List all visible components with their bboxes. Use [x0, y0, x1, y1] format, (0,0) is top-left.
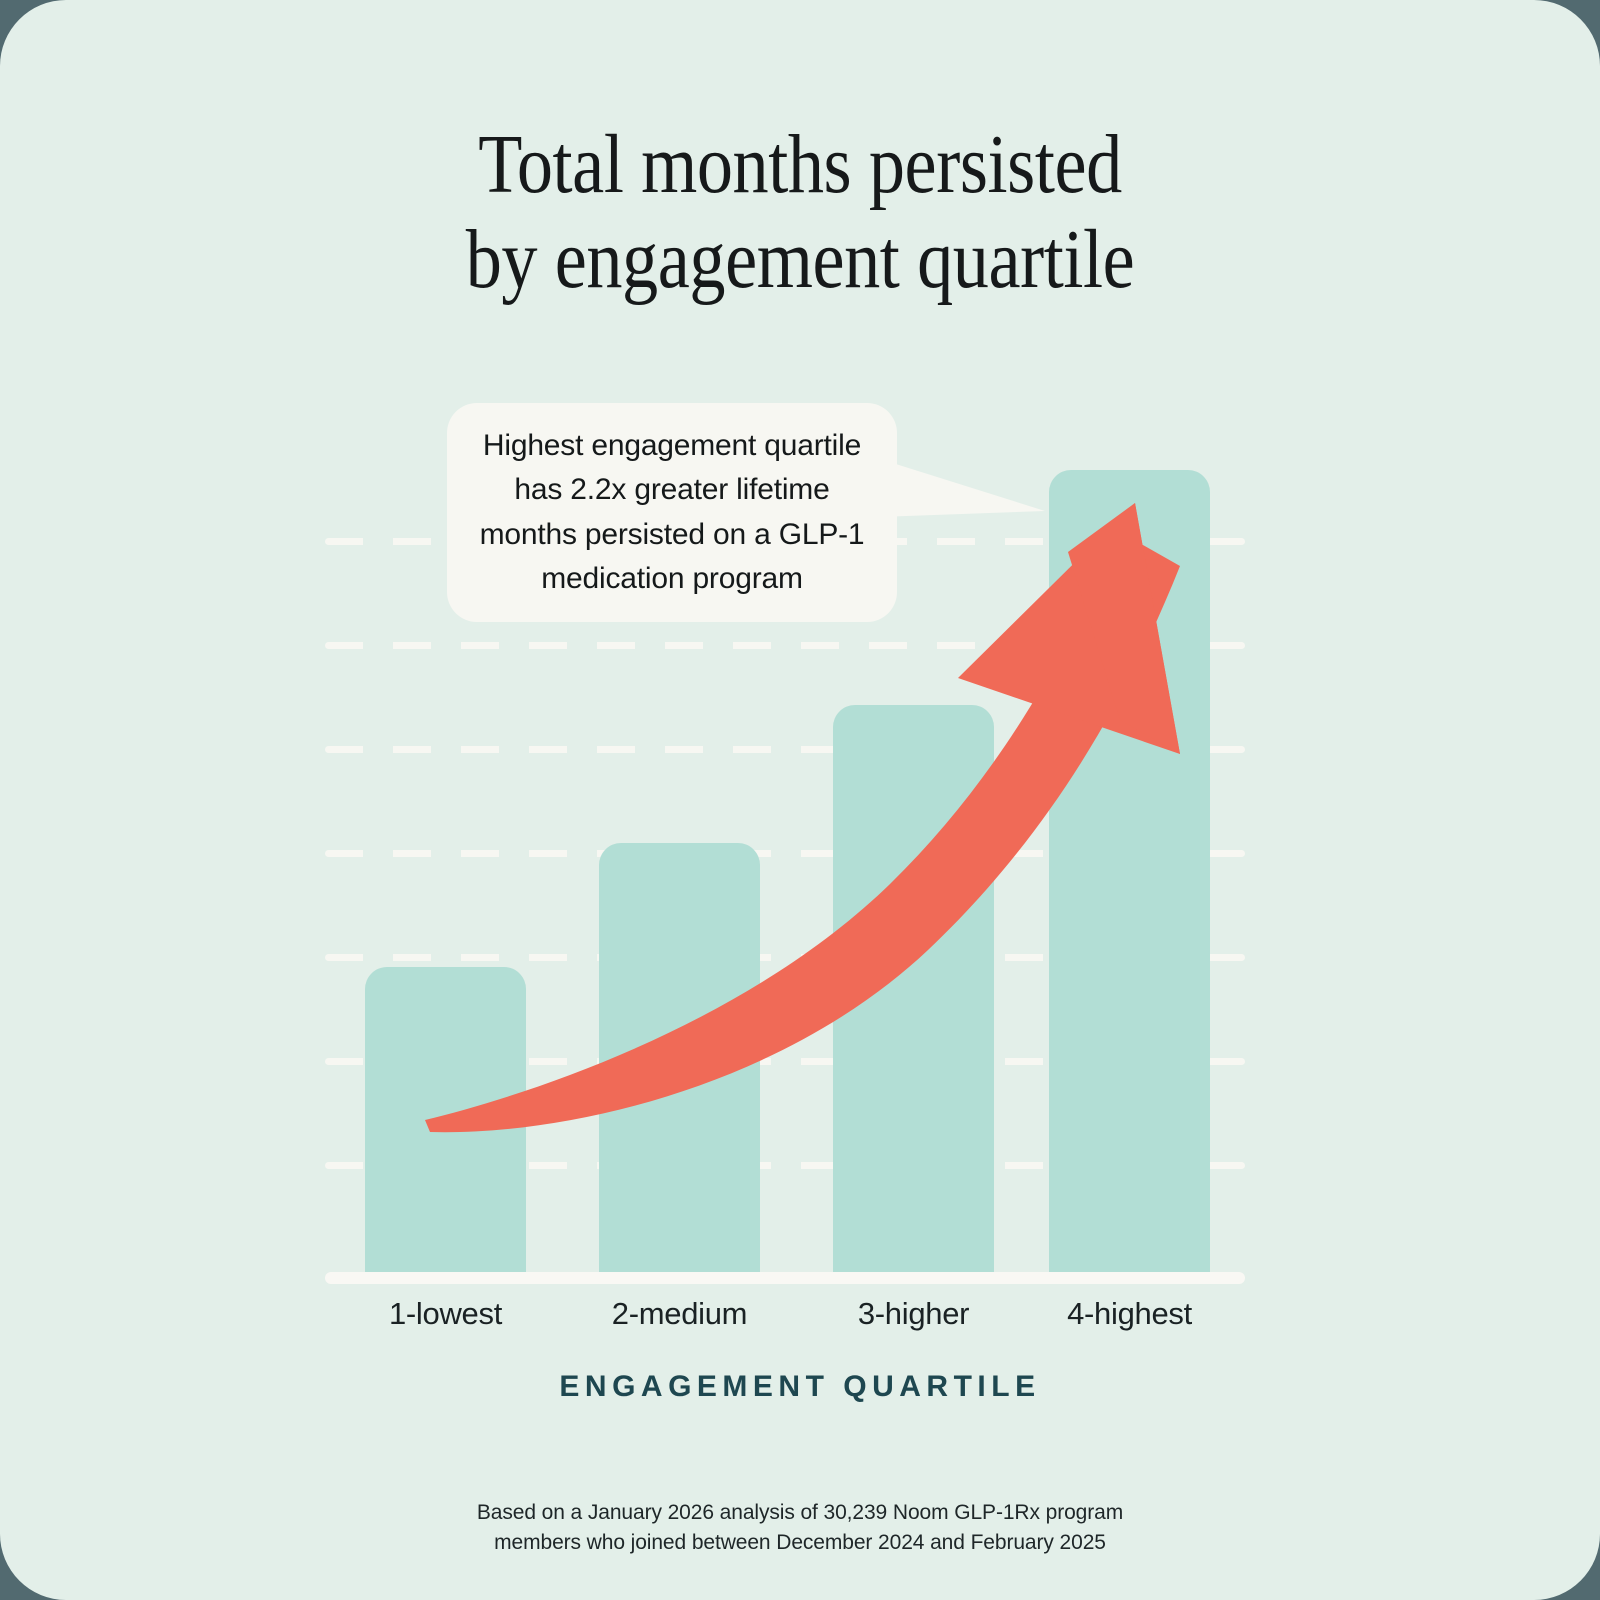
title-line-1: Total months persisted: [112, 118, 1488, 213]
callout-line-1: Highest engagement quartile: [480, 424, 865, 468]
footnote-line-2: members who joined between December 2024…: [0, 1528, 1600, 1558]
callout-line-4: medication program: [480, 557, 865, 601]
infographic-card: Total months persisted by engagement qua…: [0, 0, 1600, 1600]
footnote: Based on a January 2026 analysis of 30,2…: [0, 1498, 1600, 1558]
callout-tail: [880, 455, 1060, 525]
x-axis-label-3: 3-higher: [833, 1296, 994, 1332]
x-axis-baseline: [325, 1272, 1245, 1284]
callout-line-2: has 2.2x greater lifetime: [480, 468, 865, 512]
callout-line-3: months persisted on a GLP-1: [480, 513, 865, 557]
footnote-line-1: Based on a January 2026 analysis of 30,2…: [0, 1498, 1600, 1528]
page-title: Total months persisted by engagement qua…: [112, 118, 1488, 308]
x-axis-title: ENGAGEMENT QUARTILE: [0, 1370, 1600, 1404]
x-axis-label-1: 1-lowest: [365, 1296, 526, 1332]
callout-text: Highest engagement quartile has 2.2x gre…: [480, 424, 865, 600]
x-axis-label-4: 4-highest: [1049, 1296, 1210, 1332]
title-line-2: by engagement quartile: [112, 213, 1488, 308]
callout-bubble: Highest engagement quartile has 2.2x gre…: [447, 403, 897, 622]
x-axis-label-2: 2-medium: [599, 1296, 760, 1332]
